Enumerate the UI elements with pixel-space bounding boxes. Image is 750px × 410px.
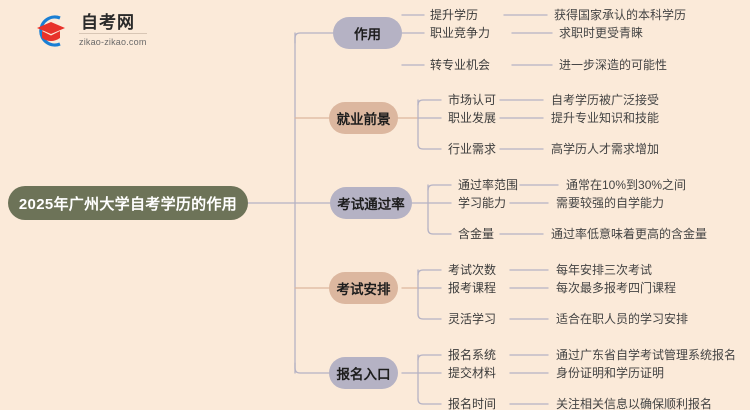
branch-node-2-label: 考试通过率 <box>337 193 405 213</box>
branch-node-0[interactable]: 作用 <box>333 17 402 49</box>
leaf-key-0-1[interactable]: 职业竞争力 <box>430 26 490 40</box>
root-node[interactable]: 2025年广州大学自考学历的作用 <box>8 186 248 220</box>
leaf-key-4-2[interactable]: 报名时间 <box>448 397 496 410</box>
logo-name-cn: 自考网 <box>79 13 147 34</box>
leaf-value-4-1: 身份证明和学历证明 <box>556 366 664 380</box>
leaf-key-1-0[interactable]: 市场认可 <box>448 93 496 107</box>
branch-node-3-label: 考试安排 <box>337 278 391 298</box>
root-node-label: 2025年广州大学自考学历的作用 <box>19 193 237 214</box>
branch-node-3[interactable]: 考试安排 <box>329 272 398 304</box>
branch-node-1-label: 就业前景 <box>337 108 391 128</box>
leaf-key-2-2[interactable]: 含金量 <box>458 227 494 241</box>
leaf-value-3-1: 每次最多报考四门课程 <box>556 281 676 295</box>
branch-node-2[interactable]: 考试通过率 <box>330 187 412 219</box>
leaf-value-0-1: 求职时更受青睐 <box>559 26 643 40</box>
leaf-value-2-1: 需要较强的自学能力 <box>556 196 664 210</box>
leaf-value-1-0: 自考学历被广泛接受 <box>551 93 659 107</box>
branch-node-4-label: 报名入口 <box>337 363 391 383</box>
leaf-value-4-0: 通过广东省自学考试管理系统报名 <box>556 348 736 362</box>
mindmap-canvas: 自考网 zikao-zikao.com 2025年广州大学自考学历的作用 作用 … <box>0 0 750 410</box>
leaf-key-0-2[interactable]: 转专业机会 <box>430 58 490 72</box>
leaf-value-2-0: 通常在10%到30%之间 <box>566 178 686 192</box>
leaf-value-0-0: 获得国家承认的本科学历 <box>554 8 686 22</box>
leaf-value-1-2: 高学历人才需求增加 <box>551 142 659 156</box>
logo-mark <box>30 11 72 51</box>
leaf-key-2-0[interactable]: 通过率范围 <box>458 178 518 192</box>
leaf-value-0-2: 进一步深造的可能性 <box>559 58 667 72</box>
logo-wordmark: 自考网 zikao-zikao.com <box>79 13 147 49</box>
leaf-value-4-2: 关注相关信息以确保顺利报名 <box>556 397 712 410</box>
leaf-value-2-2: 通过率低意味着更高的含金量 <box>551 227 707 241</box>
leaf-key-3-0[interactable]: 考试次数 <box>448 263 496 277</box>
leaf-key-2-1[interactable]: 学习能力 <box>458 196 506 210</box>
leaf-key-0-0[interactable]: 提升学历 <box>430 8 478 22</box>
branch-node-4[interactable]: 报名入口 <box>329 357 398 389</box>
leaf-key-3-1[interactable]: 报考课程 <box>448 281 496 295</box>
logo-name-en: zikao-zikao.com <box>79 34 147 49</box>
leaf-value-3-0: 每年安排三次考试 <box>556 263 652 277</box>
leaf-key-3-2[interactable]: 灵活学习 <box>448 312 496 326</box>
branch-node-0-label: 作用 <box>354 23 381 43</box>
leaf-key-4-1[interactable]: 提交材料 <box>448 366 496 380</box>
leaf-key-1-2[interactable]: 行业需求 <box>448 142 496 156</box>
leaf-key-4-0[interactable]: 报名系统 <box>448 348 496 362</box>
graduation-cap-icon <box>30 11 72 51</box>
branch-node-1[interactable]: 就业前景 <box>329 102 398 134</box>
leaf-value-3-2: 适合在职人员的学习安排 <box>556 312 688 326</box>
site-logo: 自考网 zikao-zikao.com <box>30 11 147 51</box>
leaf-key-1-1[interactable]: 职业发展 <box>448 111 496 125</box>
leaf-value-1-1: 提升专业知识和技能 <box>551 111 659 125</box>
